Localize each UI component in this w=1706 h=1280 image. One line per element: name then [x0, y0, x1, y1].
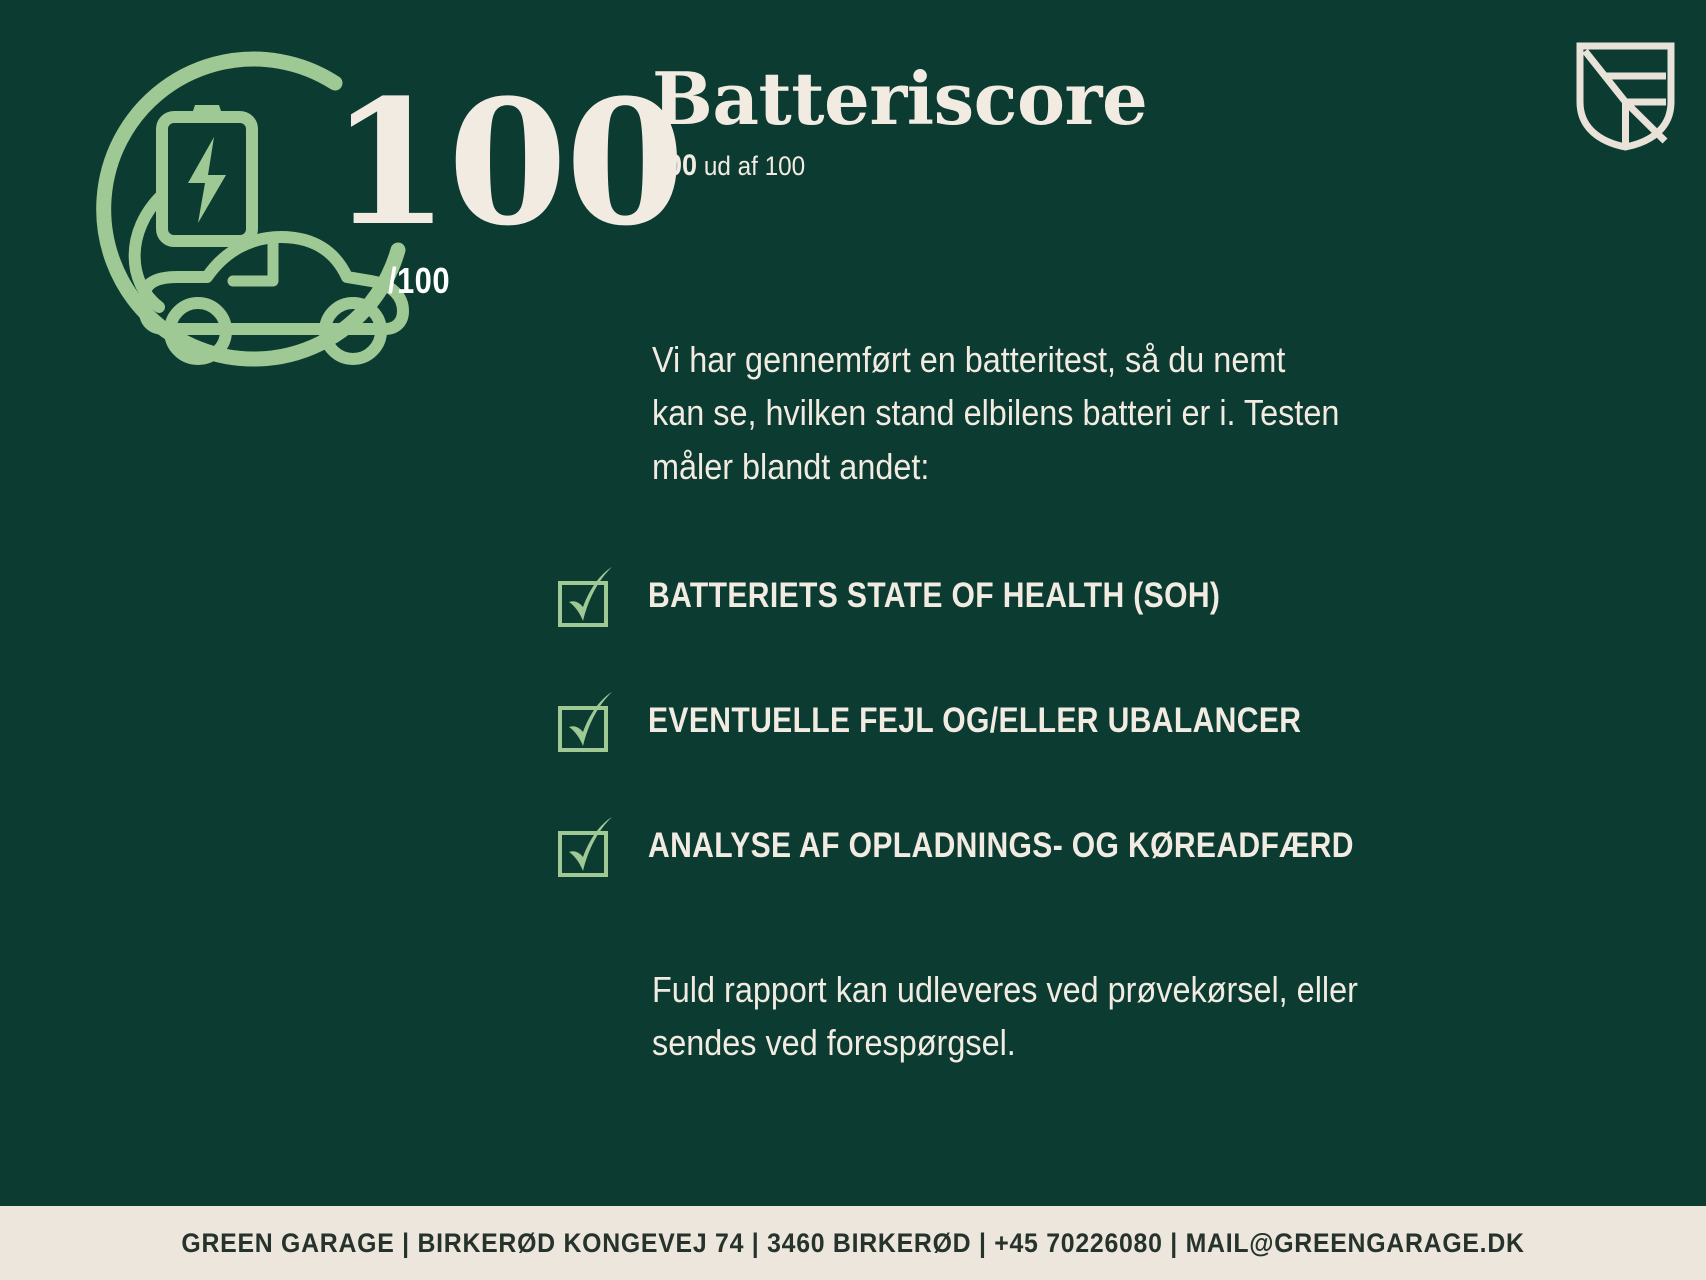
intro-paragraph: Vi har gennemført en batteritest, så du … [652, 333, 1462, 493]
score-denominator: /100 [388, 260, 450, 302]
score-summary-value: 100 [652, 149, 697, 182]
checkbox-checked-icon [556, 808, 614, 878]
checklist-item: BATTERIETS STATE OF HEALTH (SOH) [556, 552, 1616, 677]
score-summary-suffix: ud af 100 [704, 151, 805, 181]
checkbox-checked-icon [556, 683, 614, 753]
outro-paragraph: Fuld rapport kan udleveres ved prøvekørs… [652, 963, 1507, 1070]
checklist-item-label: EVENTUELLE FEJL OG/ELLER UBALANCER [648, 701, 1301, 741]
score-summary: 100 ud af 100 [652, 149, 1098, 183]
checklist-item: ANALYSE AF OPLADNINGS- OG KØREADFÆRD [556, 802, 1616, 927]
footer-contact-text: GREEN GARAGE | BIRKERØD KONGEVEJ 74 | 34… [181, 1228, 1524, 1259]
green-garage-shield-logo [1573, 40, 1678, 152]
score-badge: 100 /100 [85, 45, 555, 395]
checklist-item-label: BATTERIETS STATE OF HEALTH (SOH) [648, 576, 1220, 616]
checklist-item-label: ANALYSE AF OPLADNINGS- OG KØREADFÆRD [648, 826, 1354, 866]
score-value: 100 [330, 77, 683, 249]
checkbox-checked-icon [556, 558, 614, 628]
header-block: Batteriscore 100 ud af 100 [652, 62, 1147, 183]
checklist-item: EVENTUELLE FEJL OG/ELLER UBALANCER [556, 677, 1616, 802]
checklist: BATTERIETS STATE OF HEALTH (SOH) EVENTUE… [556, 552, 1616, 927]
page-title: Batteriscore [652, 62, 1147, 137]
footer-bar: GREEN GARAGE | BIRKERØD KONGEVEJ 74 | 34… [0, 1206, 1706, 1280]
battery-score-card: 100 /100 Batteriscore 100 ud af 100 Vi h… [0, 0, 1706, 1280]
